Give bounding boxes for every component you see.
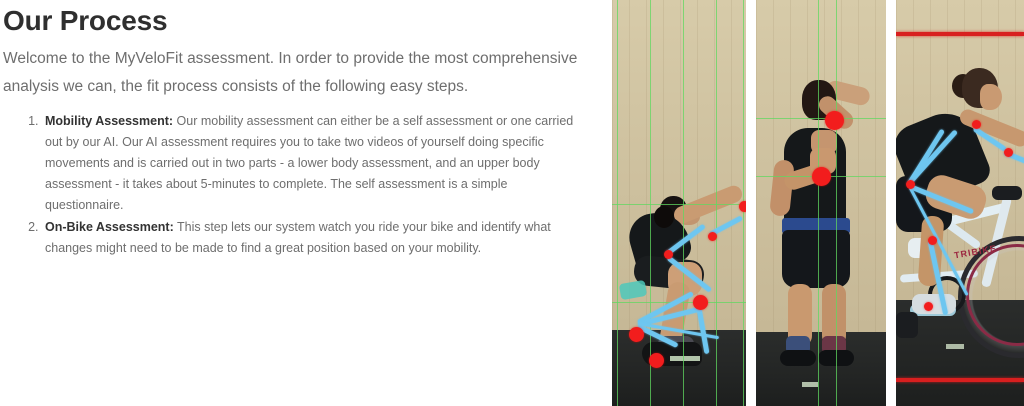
joint-marker-ankle: [924, 302, 933, 311]
joint-marker-ankle: [649, 353, 664, 368]
athlete-shoe-left: [780, 350, 816, 366]
squat-assessment-photo: [612, 0, 746, 406]
floor-marker: [946, 344, 964, 349]
grid-line-vertical: [716, 0, 717, 406]
step-description: Our mobility assessment can either be a …: [45, 114, 573, 212]
grid-line-vertical: [836, 0, 837, 406]
joint-marker-elbow: [1004, 148, 1013, 157]
joint-marker-knee: [693, 295, 708, 310]
joint-marker-hand-upper: [825, 111, 844, 130]
process-steps-list: Mobility Assessment: Our mobility assess…: [0, 111, 612, 259]
list-item: Mobility Assessment: Our mobility assess…: [42, 111, 588, 216]
intro-paragraph: Welcome to the MyVeloFit assessment. In …: [0, 45, 612, 101]
grid-line-vertical: [818, 0, 819, 406]
joint-marker-wrist: [739, 201, 747, 212]
grid-line-horizontal: [612, 204, 746, 205]
joint-marker-hip: [906, 180, 915, 189]
joint-marker-elbow: [708, 232, 717, 241]
joint-marker-shoulder: [664, 250, 673, 259]
on-bike-assessment-photo: TRIBIKE: [896, 0, 1024, 406]
process-section: Our Process Welcome to the MyVeloFit ass…: [0, 0, 1024, 406]
reference-line-top: [896, 32, 1024, 36]
athlete-shorts: [782, 230, 850, 288]
joint-marker-shoulder: [972, 120, 981, 129]
step-label: On-Bike Assessment:: [45, 220, 174, 234]
grid-line-vertical: [683, 0, 684, 406]
athlete-hair-bun: [654, 206, 674, 228]
list-item: On-Bike Assessment: This step lets our s…: [42, 217, 588, 259]
joint-marker-hip: [629, 327, 644, 342]
bike-handlebars: [992, 186, 1022, 200]
step-label: Mobility Assessment:: [45, 114, 173, 128]
grid-line-vertical: [650, 0, 651, 406]
grid-line-horizontal: [756, 118, 886, 119]
joint-marker-knee: [928, 236, 937, 245]
grid-line-vertical: [617, 0, 618, 406]
floor-marker: [670, 356, 700, 361]
floor-backdrop: [756, 332, 886, 406]
process-text-column: Our Process Welcome to the MyVeloFit ass…: [0, 0, 612, 406]
athlete-face: [980, 84, 1002, 110]
assessment-photo-gallery: TRIBIKE: [612, 0, 1024, 406]
page-title: Our Process: [0, 0, 612, 39]
floor-marker: [802, 382, 818, 387]
trainer-base: [896, 312, 918, 338]
reference-line-bottom: [896, 378, 1024, 382]
shoulder-mobility-photo: [756, 0, 886, 406]
athlete-cycling-shoe: [912, 294, 956, 314]
joint-marker-hand-lower: [812, 167, 831, 186]
